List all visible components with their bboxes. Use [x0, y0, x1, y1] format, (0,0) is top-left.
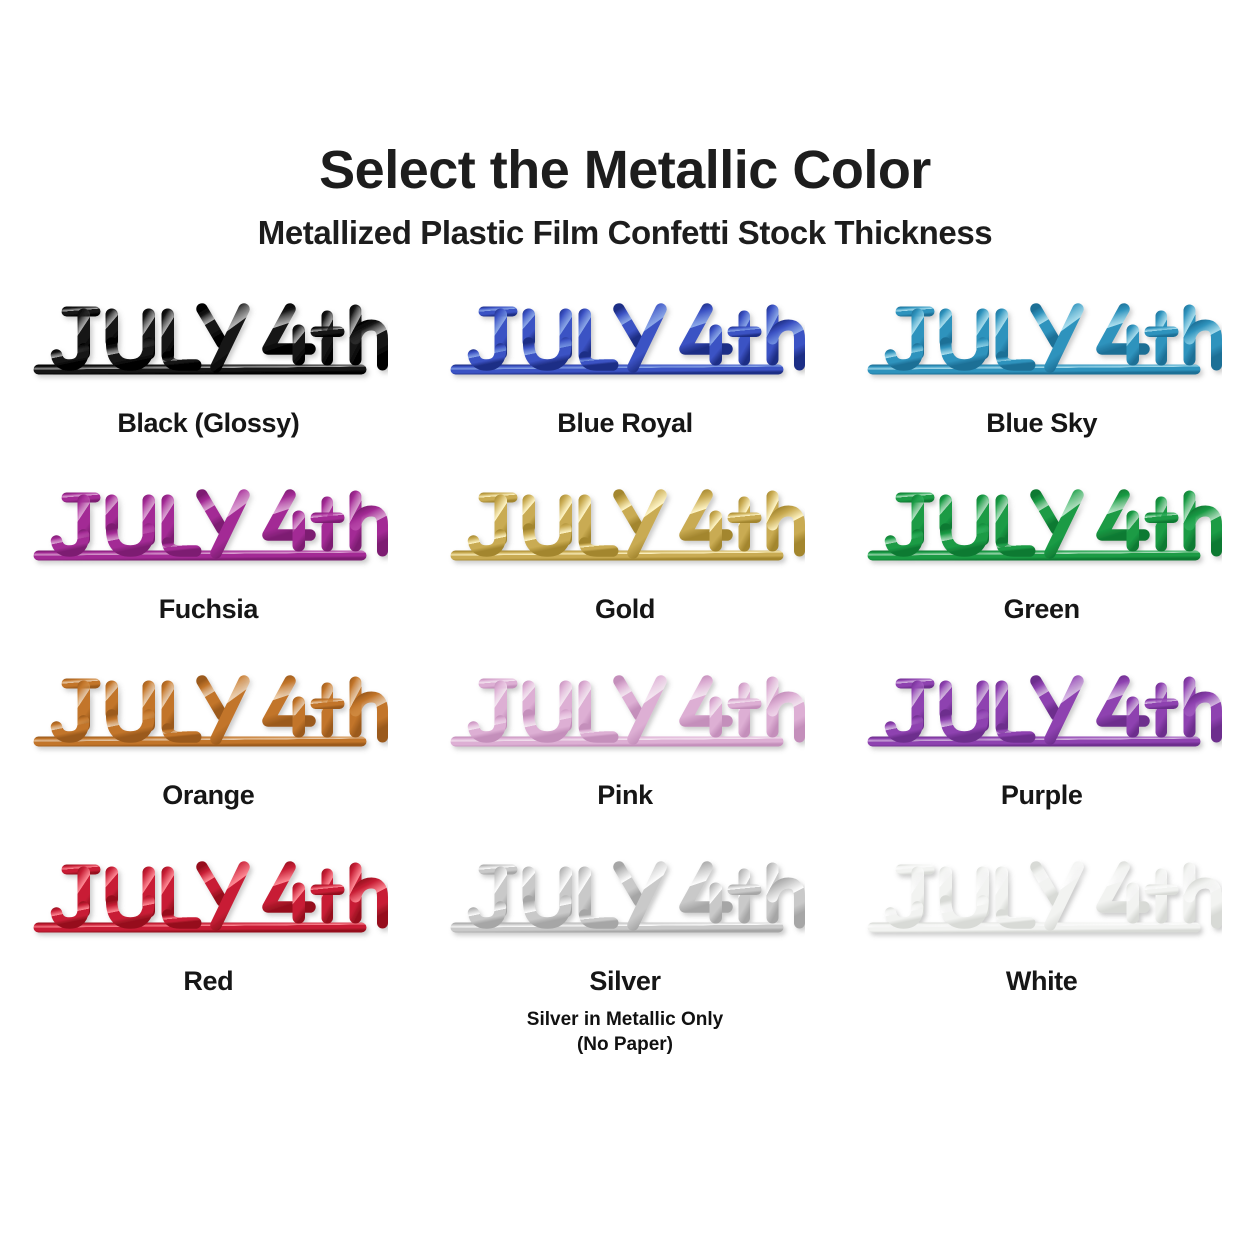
color-swatch[interactable]: White: [833, 853, 1250, 1039]
color-swatch[interactable]: Fuchsia: [0, 481, 417, 667]
note-line: (No Paper): [527, 1032, 723, 1057]
color-name-label: Blue Royal: [557, 409, 693, 439]
color-swatch[interactable]: SilverSilver in Metallic Only(No Paper): [417, 853, 834, 1039]
color-name-label: Green: [1004, 595, 1080, 625]
color-name-label: Fuchsia: [159, 595, 258, 625]
color-swatch[interactable]: Blue Royal: [417, 295, 834, 481]
color-availability-note: Silver in Metallic Only(No Paper): [527, 1007, 723, 1057]
color-selection-page: Select the Metallic Color Metallized Pla…: [0, 0, 1250, 1250]
color-name-label: Orange: [162, 781, 254, 811]
color-swatch[interactable]: Purple: [833, 667, 1250, 853]
july-4th-confetti-shape[interactable]: [862, 295, 1222, 387]
color-swatch[interactable]: Orange: [0, 667, 417, 853]
color-name-label: Purple: [1001, 781, 1083, 811]
july-4th-confetti-shape[interactable]: [862, 481, 1222, 573]
page-header: Select the Metallic Color Metallized Pla…: [0, 0, 1250, 251]
july-4th-confetti-shape[interactable]: [445, 295, 805, 387]
note-line: Silver in Metallic Only: [527, 1007, 723, 1032]
color-name-label: Pink: [597, 781, 652, 811]
july-4th-confetti-shape[interactable]: [862, 667, 1222, 759]
color-swatch[interactable]: Green: [833, 481, 1250, 667]
page-subtitle: Metallized Plastic Film Confetti Stock T…: [0, 215, 1250, 251]
color-swatch[interactable]: Black (Glossy): [0, 295, 417, 481]
color-swatch[interactable]: Pink: [417, 667, 834, 853]
july-4th-confetti-shape[interactable]: [28, 667, 388, 759]
color-name-label: Red: [183, 967, 233, 997]
july-4th-confetti-shape[interactable]: [445, 853, 805, 945]
july-4th-confetti-shape[interactable]: [862, 853, 1222, 945]
color-swatch[interactable]: Blue Sky: [833, 295, 1250, 481]
july-4th-confetti-shape[interactable]: [28, 853, 388, 945]
july-4th-confetti-shape[interactable]: [28, 295, 388, 387]
color-name-label: Silver: [589, 967, 660, 997]
color-swatch-grid: Black (Glossy): [0, 295, 1250, 1039]
color-name-label: Blue Sky: [986, 409, 1097, 439]
color-name-label: Gold: [595, 595, 655, 625]
july-4th-confetti-shape[interactable]: [445, 481, 805, 573]
color-swatch[interactable]: Red: [0, 853, 417, 1039]
color-name-label: Black (Glossy): [117, 409, 299, 439]
color-name-label: White: [1006, 967, 1078, 997]
july-4th-confetti-shape[interactable]: [28, 481, 388, 573]
july-4th-confetti-shape[interactable]: [445, 667, 805, 759]
page-title: Select the Metallic Color: [0, 142, 1250, 199]
color-swatch[interactable]: Gold: [417, 481, 834, 667]
